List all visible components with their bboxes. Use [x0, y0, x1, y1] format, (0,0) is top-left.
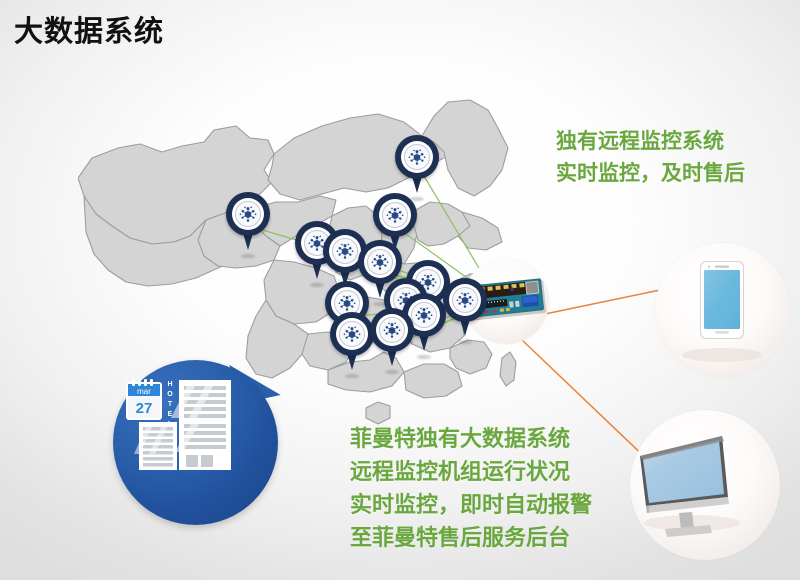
calendar-icon: mar 27: [126, 379, 162, 420]
svg-text:T: T: [168, 401, 173, 408]
callout-bottom-line-2: 远程监控机组运行状况: [350, 455, 592, 488]
callout-top-right: 独有远程监控系统 实时监控，及时售后: [556, 126, 745, 190]
svg-text:O: O: [167, 391, 173, 398]
pin-shadow: [345, 374, 359, 378]
orange-link-board-to-phone: [545, 290, 660, 314]
callout-top-right-line-1: 独有远程监控系统: [556, 126, 745, 158]
callout-bottom: 菲曼特独有大数据系统 远程监控机组运行状况 实时监控，即时自动报警 至菲曼特售后…: [350, 422, 592, 554]
calendar-day-label: 27: [136, 400, 153, 417]
pin-shadow: [385, 370, 399, 374]
calendar-month-label: mar: [137, 387, 151, 396]
callout-bottom-line-4: 至菲曼特售后服务后台: [350, 521, 592, 554]
desktop-monitor-node[interactable]: [630, 410, 780, 560]
callout-bottom-line-3: 实时监控，即时自动报警: [350, 488, 592, 521]
callout-top-right-line-2: 实时监控，及时售后: [556, 158, 745, 190]
smartphone-icon: [655, 243, 790, 378]
bubble-circle: mar 27 HOT EL: [113, 360, 278, 525]
pin-shadow: [417, 355, 431, 359]
svg-text:H: H: [167, 381, 172, 388]
hotel-vertical-label: HOT EL: [167, 381, 173, 428]
smartphone-node[interactable]: [655, 243, 790, 378]
hotel-info-bubble[interactable]: mar 27 HOT EL: [105, 352, 295, 542]
pin-shadow: [310, 283, 324, 287]
pin-shadow: [241, 254, 255, 258]
callout-bottom-line-1: 菲曼特独有大数据系统: [350, 422, 592, 455]
desktop-monitor-icon: [630, 410, 780, 560]
slide-canvas: 大数据系统: [0, 0, 800, 580]
page-title: 大数据系统: [14, 8, 164, 50]
pin-shadow: [458, 340, 472, 344]
